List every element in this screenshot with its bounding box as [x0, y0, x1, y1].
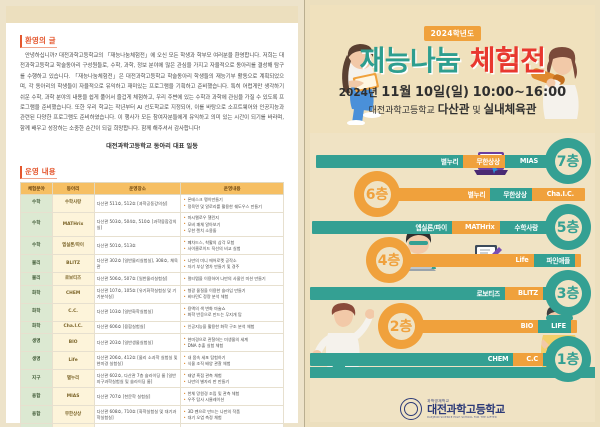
- cell-club: C.C.: [52, 303, 94, 321]
- floor-club-Cha.I.C.[interactable]: Cha.I.C.: [542, 188, 579, 201]
- floor-club-무한상상[interactable]: 무한상상: [471, 155, 504, 168]
- floor-club-무한상상[interactable]: 무한상상: [498, 188, 531, 201]
- floor-club-BIO[interactable]: BIO: [516, 320, 539, 333]
- floor-bar-filler: [310, 353, 483, 366]
- cell-field: 생명: [21, 334, 53, 352]
- col-header-place: 운영장소: [94, 183, 181, 195]
- floor-bar-filler: [316, 155, 436, 168]
- floor-bar-gap: [500, 221, 510, 234]
- cell-place: 다산관 107호, 105호 [유기화학실험실 및 기기분석실]: [94, 285, 181, 303]
- cell-field: 지구: [21, 370, 53, 388]
- floor-bar-filler: [310, 287, 472, 300]
- desc-item: 멀티탭을 이용하여 나만의 사물인 미션 만들기: [183, 276, 281, 282]
- table-row: 화학CHEM다산관 107호, 105호 [유기화학실험실 및 기기분석실]형광…: [21, 285, 284, 303]
- emblem-inner-ring: [404, 402, 418, 416]
- poster-datetime: 2024년 11월 10일(일) 10:00~16:00: [310, 81, 595, 100]
- floor-bar-gap: [505, 287, 513, 300]
- cell-club: MIAS: [52, 388, 94, 406]
- poster-title-part1: 재능나눔: [359, 44, 460, 77]
- desc-item: 무한 렌치 소용돌: [183, 228, 281, 234]
- floor-knob-hole: 1층: [555, 346, 582, 373]
- program-table: 체험분야 동아리 운영장소 운영내용 수학수학사랑다산관 511호, 512호 …: [20, 182, 284, 427]
- desc-item: 나만의 별자리 판 만들기: [183, 379, 281, 385]
- desc-item: 인공지능을 활용한 화학 구조 분석 체험: [183, 324, 281, 330]
- welcome-paragraph: 안녕하십니까? 대전과학고등학교의 「재능나눔체험전」에 오신 모든 학생과 학…: [20, 51, 284, 134]
- floor-knob-4층[interactable]: 4층: [366, 237, 412, 283]
- year-badge: 2024학년도: [424, 26, 482, 41]
- desc-item: 우주 탐사 시뮬레이션: [183, 397, 281, 403]
- venue-conjunction: 및: [472, 106, 480, 116]
- desc-item: 사이클로이드 직선의 비교 실험: [183, 246, 281, 252]
- floor-club-MATHrix[interactable]: MATHrix: [460, 221, 500, 234]
- cell-place: 다산관 206호, 412호 [물리 소과학 실험실 및 현미경 실험실]: [94, 352, 181, 370]
- cell-club: Cha.I.C.: [52, 321, 94, 333]
- cell-desc: 현미경으로 관찰하는 미생물의 세계DNA 추출 실험 체험: [181, 334, 284, 352]
- floor-knob-label: 1층: [557, 349, 580, 369]
- table-row: 지구별누리다산관 602호, 다산관 7층 슬라이딩 룸 [일반지구과학실험실 …: [21, 370, 284, 388]
- cell-club: 로보티즈: [52, 273, 94, 285]
- poster-title-part2: 체험전: [470, 44, 546, 77]
- floor-club-엡실론/파이[interactable]: 엡실론/파이: [410, 221, 452, 234]
- welcome-heading: 환영의 글: [20, 35, 57, 48]
- floor-knob-hole: 3층: [555, 280, 582, 307]
- cell-club: 무한상상: [52, 406, 94, 424]
- table-header-row: 체험분야 동아리 운영장소 운영내용: [21, 183, 284, 195]
- left-page-content: 환영의 글 안녕하십니까? 대전과학고등학교의 「재능나눔체험전」에 오신 모든…: [6, 6, 298, 423]
- floor-knob-label: 6층: [366, 184, 389, 204]
- cell-desc: 용액의 색 변화 마술쇼화학 반응으로 만드는 무지개 탑: [181, 303, 284, 321]
- date-day: 10일(일): [415, 85, 469, 100]
- table-row: 화학C.C.다산관 103호 [일반화학실험실]용액의 색 변화 마술쇼화학 반…: [21, 303, 284, 321]
- right-page-content: 2024학년도 재능나눔 체험전 2024년 11월 10일(일) 10:00~…: [310, 5, 595, 422]
- cell-desc: 형광 물질을 이용한 슬라임 만들기비타민C 정량 분석 체험: [181, 285, 284, 303]
- date-month: 11월: [381, 85, 411, 100]
- cell-club: 엡실론/파이: [52, 237, 94, 255]
- table-row: 물리BLITZ다산관 302호 [일반물리실험실], 308호, 체육관나만의 …: [21, 255, 284, 273]
- cell-field: 화학: [21, 285, 53, 303]
- desc-item: 화학 반응으로 만드는 무지개 탑: [183, 312, 281, 318]
- floor-club-LIFE[interactable]: LIFE: [546, 320, 571, 333]
- floor-bar-gap: [532, 188, 542, 201]
- cell-club: 별누리: [52, 370, 94, 388]
- floor-knob-2층[interactable]: 2층: [378, 303, 424, 349]
- logo-line-school-name: 대전과학고등학교: [427, 404, 505, 416]
- program-heading: 운영 내용: [20, 166, 57, 179]
- table-row: 수학엡실론/파이다산관 501호, 513호폐차드스, 착활의 삼각 모험사이클…: [21, 237, 284, 255]
- cell-field: 물리: [21, 273, 53, 285]
- cell-desc: 태양 흑점 관측 체험나만의 별자리 판 만들기: [181, 370, 284, 388]
- floor-bar-tail: [571, 320, 577, 333]
- cell-club: MATHrix: [52, 213, 94, 237]
- desc-item: 비타민C 정량 분석 체험: [183, 294, 281, 300]
- cell-desc: 내 몸속 세포 탐험하기식물 조직 배양 관찰 체험: [181, 352, 284, 370]
- floor-bar-gap: [505, 155, 515, 168]
- right-page: 2024학년도 재능나눔 체험전 2024년 11월 10일(일) 10:00~…: [305, 0, 600, 427]
- floor-knob-1층[interactable]: 1층: [545, 336, 591, 382]
- venue-school: 대전과학고등학교: [369, 106, 435, 116]
- floor-bar-6층: 별누리무한상상Cha.I.C.: [376, 188, 585, 201]
- cell-place: 다산관 606호 [융합실험실]: [94, 321, 181, 333]
- poster-title-block: 2024학년도 재능나눔 체험전 2024년 11월 10일(일) 10:00~…: [310, 21, 595, 117]
- table-row: 생명BIO다산관 203호 [일반생물실험실]현미경으로 관찰하는 미생물의 세…: [21, 334, 284, 352]
- table-row: 수학수학사랑다산관 511호, 512호 [과학공동강의실]폰테스크 팽이만들기…: [21, 195, 284, 213]
- welcome-body: 안녕하십니까? 대전과학고등학교의 「재능나눔체험전」에 오신 모든 학생과 학…: [20, 51, 284, 134]
- floor-club-파인애플[interactable]: 파인애플: [542, 254, 575, 267]
- floor-bar-gap: [490, 188, 498, 201]
- desc-item: 정육면 및 알로리를 활용한 쉐도우스 만들기: [183, 204, 281, 210]
- floor-knob-label: 7층: [557, 151, 580, 171]
- cell-place: 다산관 511호, 512호 [과학공동강의실]: [94, 195, 181, 213]
- floor-club-로보티즈[interactable]: 로보티즈: [472, 287, 505, 300]
- cell-field: 화학: [21, 303, 53, 321]
- floor-club-수학사랑[interactable]: 수학사랑: [510, 221, 543, 234]
- cell-field: 융합: [21, 388, 53, 406]
- cell-field: 수학: [21, 213, 53, 237]
- floor-bar-gap: [538, 320, 546, 333]
- floor-bar-tail: [575, 254, 581, 267]
- left-page-top-band: [6, 6, 298, 23]
- floor-knob-hole: 2층: [388, 313, 415, 340]
- floor-bar-gap: [463, 155, 471, 168]
- floor-map-diagram: 별누리무한상상MIAS7층별누리무한상상Cha.I.C.6층엡실론/파이MATH…: [310, 133, 595, 378]
- floor-knob-hole: 6층: [364, 181, 391, 208]
- table-row: 물리로보티즈다산관 506호, 507호 [일반물리실험실]멀티탭을 이용하여 …: [21, 273, 284, 285]
- col-header-desc: 운영내용: [181, 183, 284, 195]
- cell-place: 다산관 203호 [일반생물실험실]: [94, 334, 181, 352]
- floor-bar-2층: BIOLIFE: [400, 320, 577, 333]
- desc-item: 식물 조직 배양 관찰 체험: [183, 361, 281, 367]
- desc-item: 자기 부상 열차 만들기 및 경주: [183, 264, 281, 270]
- poster-title: 재능나눔 체험전: [310, 46, 595, 76]
- table-row: 융합MIAS다산관 707호 [천문학 실험실]천체 망원경 조립 및 관측 체…: [21, 388, 284, 406]
- brochure-spread: 환영의 글 안녕하십니까? 대전과학고등학교의 「재능나눔체험전」에 오신 모든…: [0, 0, 600, 427]
- floor-knob-hole: 7층: [555, 148, 582, 175]
- cell-place: 다산관 302호 [일반물리실험실], 308호, 체육관: [94, 255, 181, 273]
- floor-bar-1층: CHEMC.C: [310, 353, 557, 366]
- floor-bar-3층: 로보티즈BLITZ: [310, 287, 557, 300]
- floor-bar-5층: 엡실론/파이MATHrix수학사랑: [312, 221, 557, 234]
- table-row: 수학MATHrix다산관 503호, 504호, 510호 [과학융합강의실]마…: [21, 213, 284, 237]
- cell-desc: 폰테스크 팽이만들기정육면 및 알로리를 활용한 쉐도우스 만들기: [181, 195, 284, 213]
- school-logo-text: 과학영재학교 대전과학고등학교 DAEJEON SCIENCE HIGH SCH…: [427, 399, 505, 419]
- program-table-body: 수학수학사랑다산관 511호, 512호 [과학공동강의실]폰테스크 팽이만들기…: [21, 195, 284, 427]
- cell-field: 생명: [21, 352, 53, 370]
- cell-club: Life: [52, 352, 94, 370]
- floor-bar-4층: Life파인애플: [388, 254, 581, 267]
- table-row: 화학Cha.I.C.다산관 606호 [융합실험실]인공지능을 활용한 화학 구…: [21, 321, 284, 333]
- cell-place: 다산관 602호, 다산관 7층 슬라이딩 룸 [일반지구과학실험실 및 슬라이…: [94, 370, 181, 388]
- logo-line-english: DAEJEON SCIENCE HIGH SCHOOL FOR THE GIFT…: [427, 416, 505, 419]
- floor-club-CHEM[interactable]: CHEM: [483, 353, 514, 366]
- floor-bar-7층: 별누리무한상상MIAS: [316, 155, 557, 168]
- floor-knob-5층[interactable]: 5층: [545, 204, 591, 250]
- cell-field: 수학: [21, 237, 53, 255]
- cell-desc: 마시멜로우 챌린지모비 쾌체 알아보기무한 렌치 소용돌: [181, 213, 284, 237]
- floor-bar-gap: [452, 221, 460, 234]
- date-year: 2024년: [339, 87, 378, 99]
- cell-desc: 천체 망원경 조립 및 관측 체험우주 탐사 시뮬레이션: [181, 388, 284, 406]
- cell-club: CHEM: [52, 285, 94, 303]
- cell-place: 다산관 103호 [일반화학실험실]: [94, 303, 181, 321]
- cell-field: 화학: [21, 321, 53, 333]
- floor-club-MIAS[interactable]: MIAS: [515, 155, 543, 168]
- floor-knob-label: 3층: [557, 283, 580, 303]
- floor-knob-6층[interactable]: 6층: [354, 171, 400, 217]
- left-page: 환영의 글 안녕하십니까? 대전과학고등학교의 「재능나눔체험전」에 오신 모든…: [0, 0, 305, 427]
- desc-item: 대기 오염 측정 체험: [183, 415, 281, 421]
- floor-bar-gap: [534, 254, 542, 267]
- floor-bar-gap: [513, 353, 521, 366]
- cell-place: 다산관 503호, 504호, 510호 [과학융합강의실]: [94, 213, 181, 237]
- floor-club-Life[interactable]: Life: [511, 254, 534, 267]
- date-time: 10:00~16:00: [473, 85, 567, 100]
- table-row: 생명Life다산관 206호, 412호 [물리 소과학 실험실 및 현미경 실…: [21, 352, 284, 370]
- school-logo: 과학영재학교 대전과학고등학교 DAEJEON SCIENCE HIGH SCH…: [310, 398, 595, 420]
- welcome-signature: 대전과학고등학교 동아리 대표 일동: [20, 141, 284, 150]
- cell-club: 수학사랑: [52, 195, 94, 213]
- floor-knob-label: 4층: [378, 250, 401, 270]
- floor-club-별누리[interactable]: 별누리: [463, 188, 491, 201]
- venue-gym: 실내체육관: [484, 102, 537, 116]
- floor-knob-hole: 4층: [376, 247, 403, 274]
- cell-desc: 3D 펜으로 만드는 나만의 작품대기 오염 측정 체험: [181, 406, 284, 424]
- desc-item: DNA 추출 실험 체험: [183, 343, 281, 349]
- cell-field: 융합: [21, 406, 53, 424]
- cell-club: BIO: [52, 334, 94, 352]
- floor-club-별누리[interactable]: 별누리: [436, 155, 464, 168]
- cell-place: 다산관 501호, 513호: [94, 237, 181, 255]
- floor-club-BLITZ[interactable]: BLITZ: [513, 287, 543, 300]
- floor-knob-3층[interactable]: 3층: [545, 270, 591, 316]
- floor-bar-tail: [579, 188, 585, 201]
- cell-place: 다산관 506호, 507호 [일반물리실험실]: [94, 273, 181, 285]
- table-row: 융합무한상상다산관 608호, 710호 [화학실험실 및 대기과학실험실]3D…: [21, 406, 284, 424]
- cell-desc: 나만의 미니 에어로켓 공작소자기 부상 열차 만들기 및 경주: [181, 255, 284, 273]
- school-emblem-icon: [400, 398, 422, 420]
- cell-place: 다산관 707호 [천문학 실험실]: [94, 388, 181, 406]
- floor-bar-filler: [312, 221, 410, 234]
- floor-club-C.C[interactable]: C.C: [521, 353, 543, 366]
- cell-field: 수학: [21, 195, 53, 213]
- cell-desc: 폐차드스, 착활의 삼각 모험사이클로이드 직선의 비교 실험: [181, 237, 284, 255]
- cell-desc: 멀티탭을 이용하여 나만의 사물인 미션 만들기: [181, 273, 284, 285]
- floor-knob-hole: 5층: [555, 214, 582, 241]
- col-header-club: 동아리: [52, 183, 94, 195]
- col-header-field: 체험분야: [21, 183, 53, 195]
- poster-venue: 대전과학고등학교 다산관 및 실내체육관: [310, 101, 595, 117]
- floor-knob-label: 2층: [390, 316, 413, 336]
- floor-knob-7층[interactable]: 7층: [545, 138, 591, 184]
- floor-knob-label: 5층: [557, 217, 580, 237]
- poster-hero: 2024학년도 재능나눔 체험전 2024년 11월 10일(일) 10:00~…: [310, 5, 595, 133]
- cell-place: 다산관 608호, 710호 [화학실험실 및 대기과학실험실]: [94, 406, 181, 424]
- cell-club: BLITZ: [52, 255, 94, 273]
- cell-field: 물리: [21, 255, 53, 273]
- venue-building: 다산관: [438, 102, 470, 116]
- cell-desc: 인공지능을 활용한 화학 구조 분석 체험: [181, 321, 284, 333]
